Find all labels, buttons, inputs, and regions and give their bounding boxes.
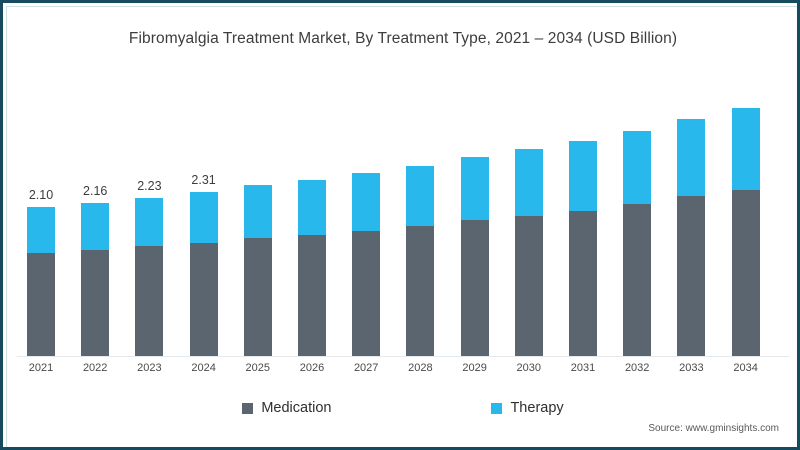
- bar-group[interactable]: [298, 180, 326, 356]
- bar-group[interactable]: [732, 108, 760, 356]
- bar-segment-medication[interactable]: [352, 231, 380, 356]
- bar-group[interactable]: [569, 141, 597, 356]
- bar-value-label: 2.16: [83, 184, 107, 198]
- bar-segment-medication[interactable]: [461, 220, 489, 356]
- bar-value-label: 2.10: [29, 188, 53, 202]
- bar-segment-therapy[interactable]: [298, 180, 326, 235]
- x-axis-line: [17, 356, 789, 357]
- bar-group[interactable]: [461, 157, 489, 356]
- bar-value-label: 2.23: [137, 179, 161, 193]
- bar-segment-therapy[interactable]: [515, 149, 543, 216]
- bar-segment-therapy[interactable]: [406, 166, 434, 226]
- bar-segment-therapy[interactable]: [569, 141, 597, 211]
- bar-segment-medication[interactable]: [732, 190, 760, 357]
- legend-swatch-icon: [491, 403, 502, 414]
- bar-group[interactable]: 2.10: [27, 207, 55, 356]
- legend-label: Therapy: [510, 400, 563, 416]
- legend-item-medication[interactable]: Medication: [242, 400, 331, 416]
- bar-group[interactable]: 2.31: [190, 192, 218, 356]
- x-axis-tick-label: 2023: [135, 362, 163, 374]
- bar-value-label: 2.31: [191, 173, 215, 187]
- bar-segment-therapy[interactable]: [244, 185, 272, 238]
- x-axis-tick-label: 2031: [569, 362, 597, 374]
- bar-segment-medication[interactable]: [677, 196, 705, 356]
- x-axis-tick-label: 2027: [352, 362, 380, 374]
- x-axis-tick-label: 2026: [298, 362, 326, 374]
- plot-area: 2.1020212.1620222.2320232.31202420252026…: [3, 3, 800, 450]
- legend-label: Medication: [261, 400, 331, 416]
- bar-segment-medication[interactable]: [27, 253, 55, 356]
- bar-segment-therapy[interactable]: [623, 131, 651, 204]
- bar-group[interactable]: [352, 173, 380, 356]
- bar-segment-therapy[interactable]: [677, 119, 705, 196]
- bar-segment-medication[interactable]: [569, 211, 597, 356]
- bar-segment-therapy[interactable]: [81, 203, 109, 250]
- legend-item-therapy[interactable]: Therapy: [491, 400, 563, 416]
- bar-segment-therapy[interactable]: [27, 207, 55, 253]
- bar-segment-medication[interactable]: [190, 243, 218, 356]
- x-axis-tick-label: 2034: [732, 362, 760, 374]
- bar-group[interactable]: 2.16: [81, 203, 109, 356]
- x-axis-tick-label: 2028: [406, 362, 434, 374]
- x-axis-tick-label: 2029: [461, 362, 489, 374]
- bar-segment-medication[interactable]: [298, 235, 326, 356]
- bar-segment-medication[interactable]: [515, 216, 543, 356]
- bar-segment-therapy[interactable]: [352, 173, 380, 231]
- x-axis-tick-label: 2032: [623, 362, 651, 374]
- bar-group[interactable]: [623, 131, 651, 356]
- chart-page: Fibromyalgia Treatment Market, By Treatm…: [0, 0, 800, 450]
- bar-segment-medication[interactable]: [406, 226, 434, 356]
- chart-legend: MedicationTherapy: [3, 400, 800, 416]
- bar-segment-medication[interactable]: [81, 250, 109, 356]
- x-axis-tick-label: 2033: [677, 362, 705, 374]
- bar-group[interactable]: [244, 185, 272, 356]
- legend-swatch-icon: [242, 403, 253, 414]
- bar-segment-medication[interactable]: [623, 204, 651, 356]
- bar-segment-therapy[interactable]: [732, 108, 760, 189]
- bar-group[interactable]: 2.23: [135, 198, 163, 356]
- bar-group[interactable]: [677, 119, 705, 356]
- bar-segment-therapy[interactable]: [135, 198, 163, 246]
- x-axis-tick-label: 2022: [81, 362, 109, 374]
- bar-segment-therapy[interactable]: [461, 157, 489, 220]
- x-axis-tick-label: 2030: [515, 362, 543, 374]
- bar-segment-medication[interactable]: [135, 246, 163, 356]
- bar-segment-therapy[interactable]: [190, 192, 218, 243]
- x-axis-tick-label: 2024: [190, 362, 218, 374]
- x-axis-tick-label: 2021: [27, 362, 55, 374]
- bar-segment-medication[interactable]: [244, 238, 272, 356]
- x-axis-tick-label: 2025: [244, 362, 272, 374]
- bar-group[interactable]: [515, 149, 543, 356]
- source-attribution: Source: www.gminsights.com: [648, 423, 779, 434]
- bar-group[interactable]: [406, 166, 434, 356]
